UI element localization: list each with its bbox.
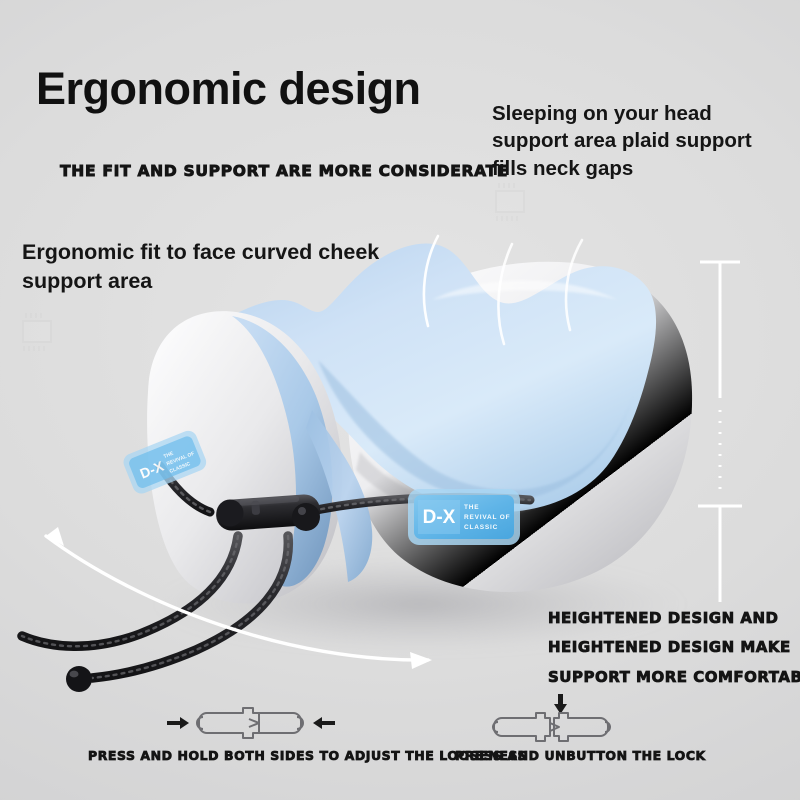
brand-tag-logo: D-X: [423, 507, 456, 528]
arrow-head-right: [410, 652, 432, 669]
brand-tag-line1: THE: [464, 504, 479, 511]
page-title: Ergonomic design: [36, 66, 421, 111]
watermark-middle: [495, 190, 525, 213]
vertical-measure-line: [688, 250, 758, 610]
caption-unlock: PRESS AND UNBUTTON THE LOCK: [455, 748, 706, 763]
cord-end-bead: [66, 666, 92, 692]
brand-tag-line2: REVIVAL OF: [464, 514, 510, 521]
cord-lock-closed-diagram: [165, 700, 345, 746]
product-marketing-image: D-X THE REVIVAL OF CLASSIC D-X THE REVIV…: [0, 0, 800, 800]
callout-left: Ergonomic fit to face curved cheek suppo…: [22, 238, 422, 296]
cord-lock-open-diagram: [472, 692, 632, 748]
brand-tag-line3: CLASSIC: [464, 524, 498, 531]
arrow-left-icon: [313, 717, 335, 729]
watermark-left: [22, 320, 52, 343]
arrow-down-icon: [554, 694, 567, 714]
callout-bottom-right-line-1: HEIGHTENED DESIGN AND: [548, 604, 798, 633]
arrow-right-icon: [167, 717, 189, 729]
cord-bead-highlight: [70, 671, 79, 678]
brand-tag-primary: D-X THE REVIVAL OF CLASSIC: [408, 489, 520, 545]
callout-top-right: Sleeping on your head support area plaid…: [492, 100, 792, 182]
callout-bottom-right: HEIGHTENED DESIGN AND HEIGHTENED DESIGN …: [548, 604, 798, 692]
callout-bottom-right-line-3: SUPPORT MORE COMFORTABLE: [548, 663, 798, 692]
callout-bottom-right-line-2: HEIGHTENED DESIGN MAKE: [548, 633, 798, 662]
page-subtitle: THE FIT AND SUPPORT ARE MORE CONSIDERATE: [60, 162, 508, 180]
